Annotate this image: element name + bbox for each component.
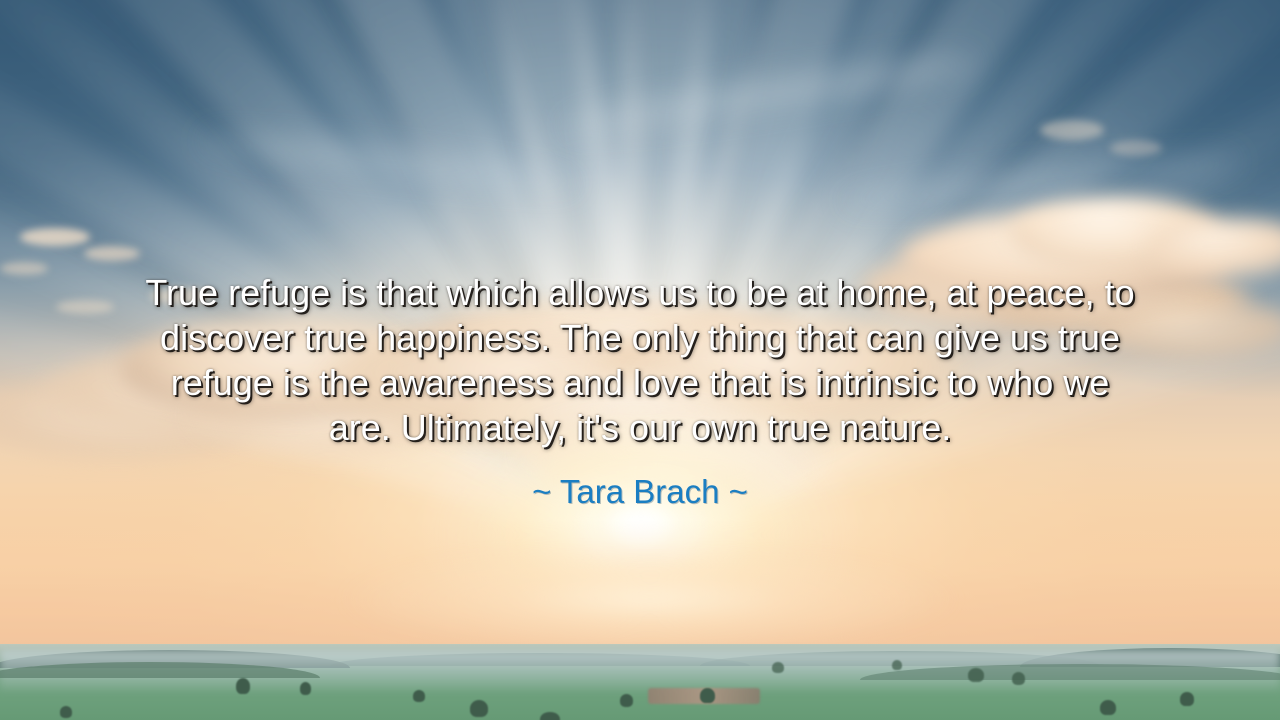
quote-image-canvas: True refuge is that which allows us to b… [0,0,1280,720]
quote-text: True refuge is that which allows us to b… [110,270,1170,450]
quote-overlay: True refuge is that which allows us to b… [0,0,1280,720]
quote-attribution: ~ Tara Brach ~ [532,472,748,512]
